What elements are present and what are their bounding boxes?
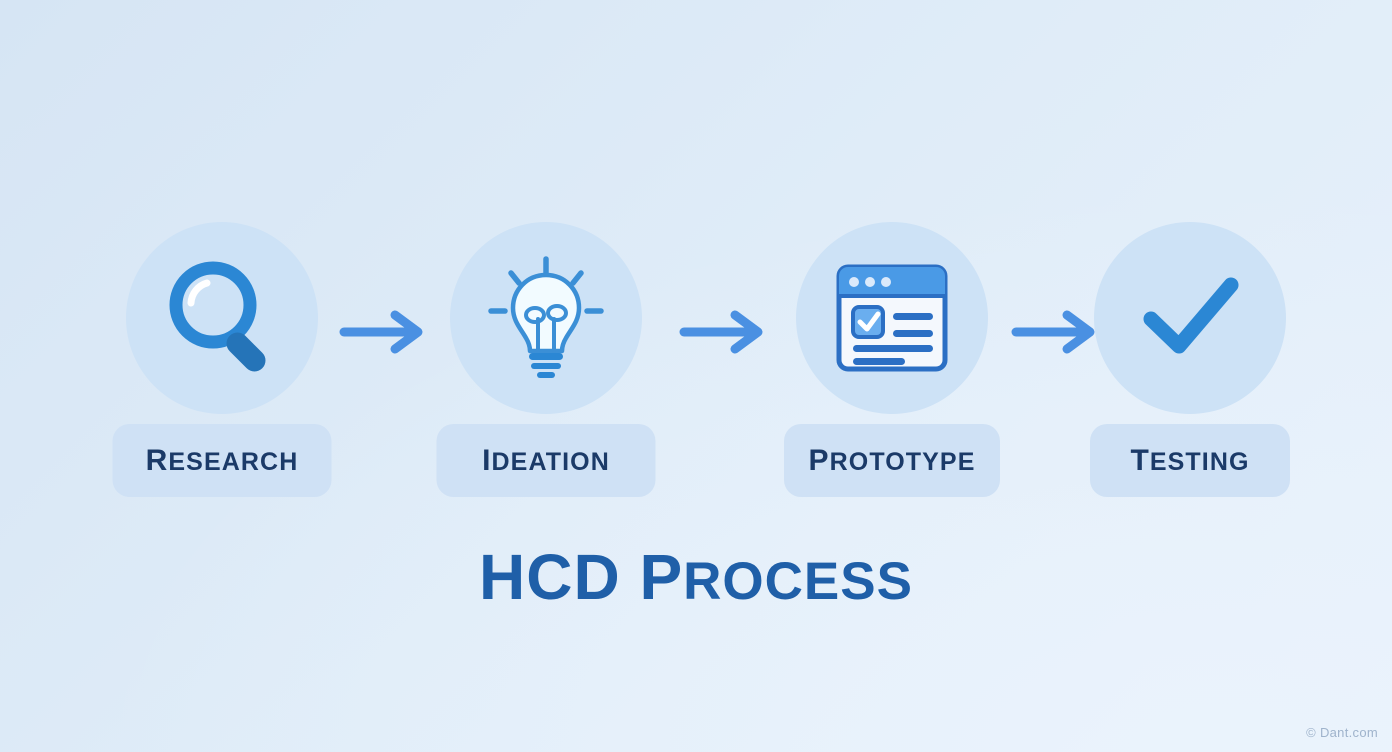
process-step-testing[interactable]: TESTING [1080,222,1300,502]
lightbulb-icon [481,253,611,383]
step-label-prototype: PROTOTYPE [809,446,976,476]
step-label-chip: RESEARCH [113,424,332,497]
step-label-research: RESEARCH [146,446,299,476]
arrow-right-icon [338,306,430,358]
wireframe-window-icon [827,253,957,383]
process-step-research[interactable]: RESEARCH [112,222,332,502]
hcd-process-infographic: RESEARCH [0,0,1392,752]
process-step-prototype[interactable]: PROTOTYPE [782,222,1002,502]
page-title: HCD PROCESS [0,545,1392,609]
step-label-testing: TESTING [1130,446,1249,476]
checkmark-icon [1125,253,1255,383]
step-label-chip: IDEATION [437,424,656,497]
step-label-chip: PROTOTYPE [784,424,1000,497]
arrow-right-icon [678,306,770,358]
watermark: © Dant.com [1306,725,1378,740]
magnifier-icon [157,253,287,383]
process-step-ideation[interactable]: IDEATION [436,222,656,502]
step-label-ideation: IDEATION [482,446,610,476]
step-label-chip: TESTING [1090,424,1290,497]
